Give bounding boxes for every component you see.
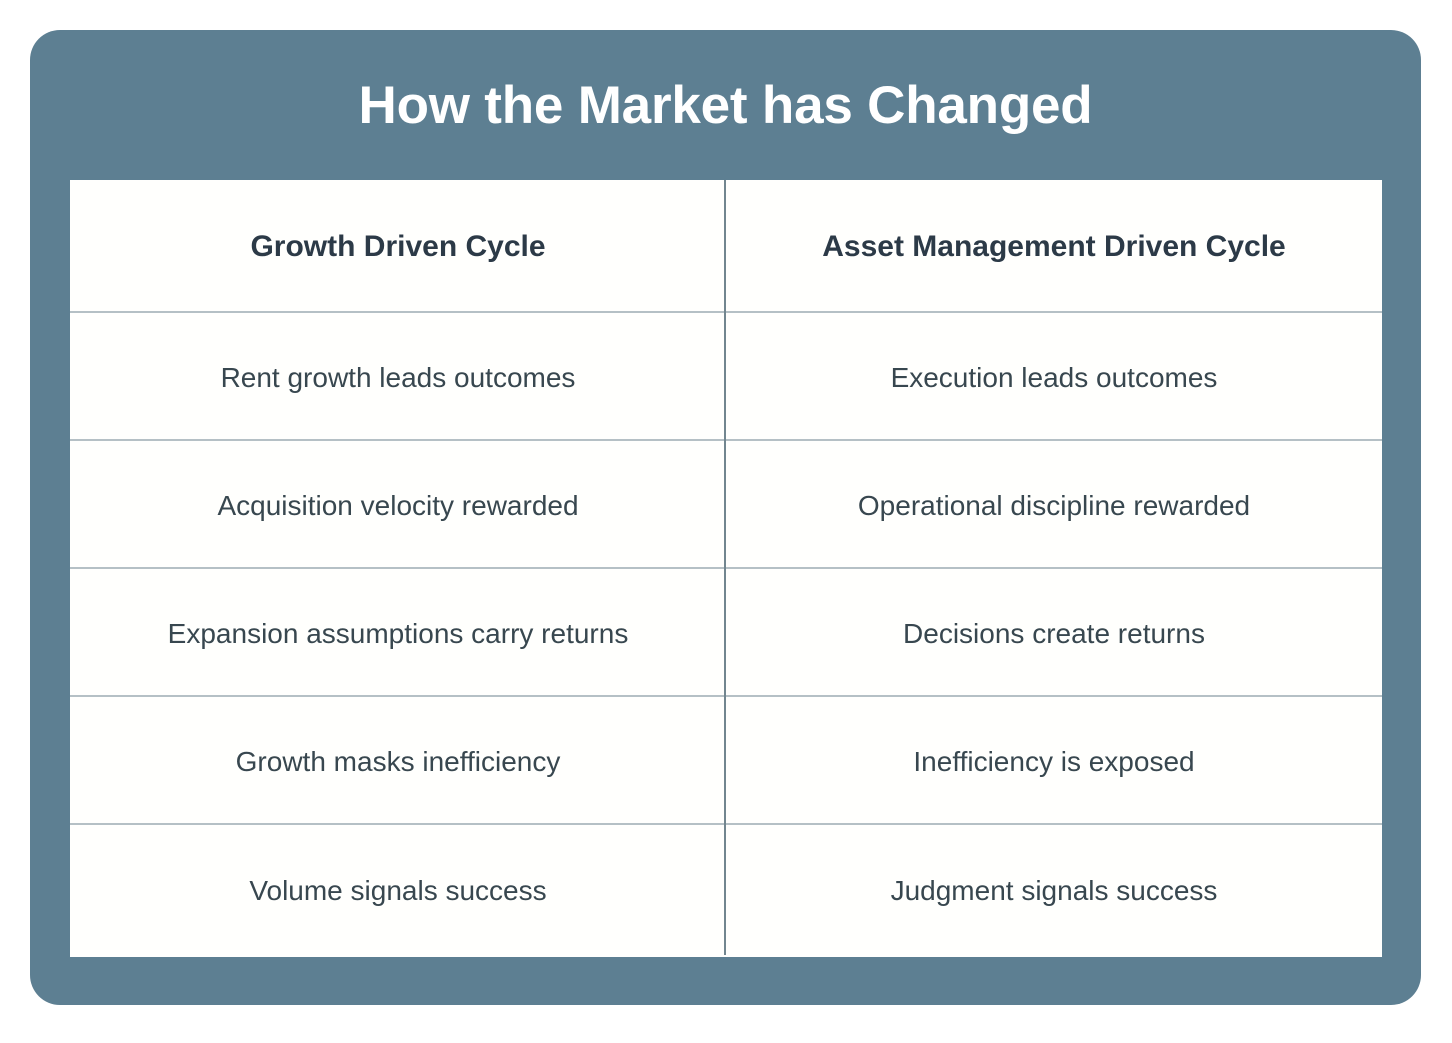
table-cell-text: Acquisition velocity rewarded <box>217 488 578 523</box>
comparison-table: Growth Driven Cycle Asset Management Dri… <box>70 180 1382 957</box>
table-header-row: Growth Driven Cycle Asset Management Dri… <box>70 180 1382 313</box>
column-header-asset-management-driven-cycle: Asset Management Driven Cycle <box>726 180 1382 313</box>
column-header-growth-driven-cycle: Growth Driven Cycle <box>70 180 726 313</box>
page-title: How the Market has Changed <box>30 77 1421 135</box>
table-cell-text: Growth masks inefficiency <box>236 744 561 779</box>
table-cell-left: Volume signals success <box>70 825 726 955</box>
table-cell-text: Inefficiency is exposed <box>913 744 1194 779</box>
table-cell-left: Rent growth leads outcomes <box>70 313 726 441</box>
table-row: Volume signals success Judgment signals … <box>70 825 1382 955</box>
table-cell-text: Decisions create returns <box>903 616 1205 651</box>
table-cell-text: Rent growth leads outcomes <box>221 360 576 395</box>
table-cell-left: Expansion assumptions carry returns <box>70 569 726 697</box>
table-cell-right: Judgment signals success <box>726 825 1382 955</box>
table-cell-right: Operational discipline rewarded <box>726 441 1382 569</box>
table-cell-left: Acquisition velocity rewarded <box>70 441 726 569</box>
table-row: Rent growth leads outcomes Execution lea… <box>70 313 1382 441</box>
table-cell-text: Operational discipline rewarded <box>858 488 1250 523</box>
column-header-label: Growth Driven Cycle <box>250 229 545 265</box>
table-cell-text: Volume signals success <box>249 873 546 908</box>
table-row: Expansion assumptions carry returns Deci… <box>70 569 1382 697</box>
column-header-label: Asset Management Driven Cycle <box>822 229 1286 265</box>
table-row: Acquisition velocity rewarded Operationa… <box>70 441 1382 569</box>
table-row: Growth masks inefficiency Inefficiency i… <box>70 697 1382 825</box>
table-cell-right: Execution leads outcomes <box>726 313 1382 441</box>
page-canvas: How the Market has Changed Growth Driven… <box>0 0 1452 1043</box>
table-cell-right: Inefficiency is exposed <box>726 697 1382 825</box>
table-cell-text: Judgment signals success <box>891 873 1218 908</box>
table-cell-right: Decisions create returns <box>726 569 1382 697</box>
table-cell-left: Growth masks inefficiency <box>70 697 726 825</box>
table-cell-text: Expansion assumptions carry returns <box>168 616 629 651</box>
table-cell-text: Execution leads outcomes <box>891 360 1218 395</box>
comparison-card: How the Market has Changed Growth Driven… <box>30 30 1421 1005</box>
